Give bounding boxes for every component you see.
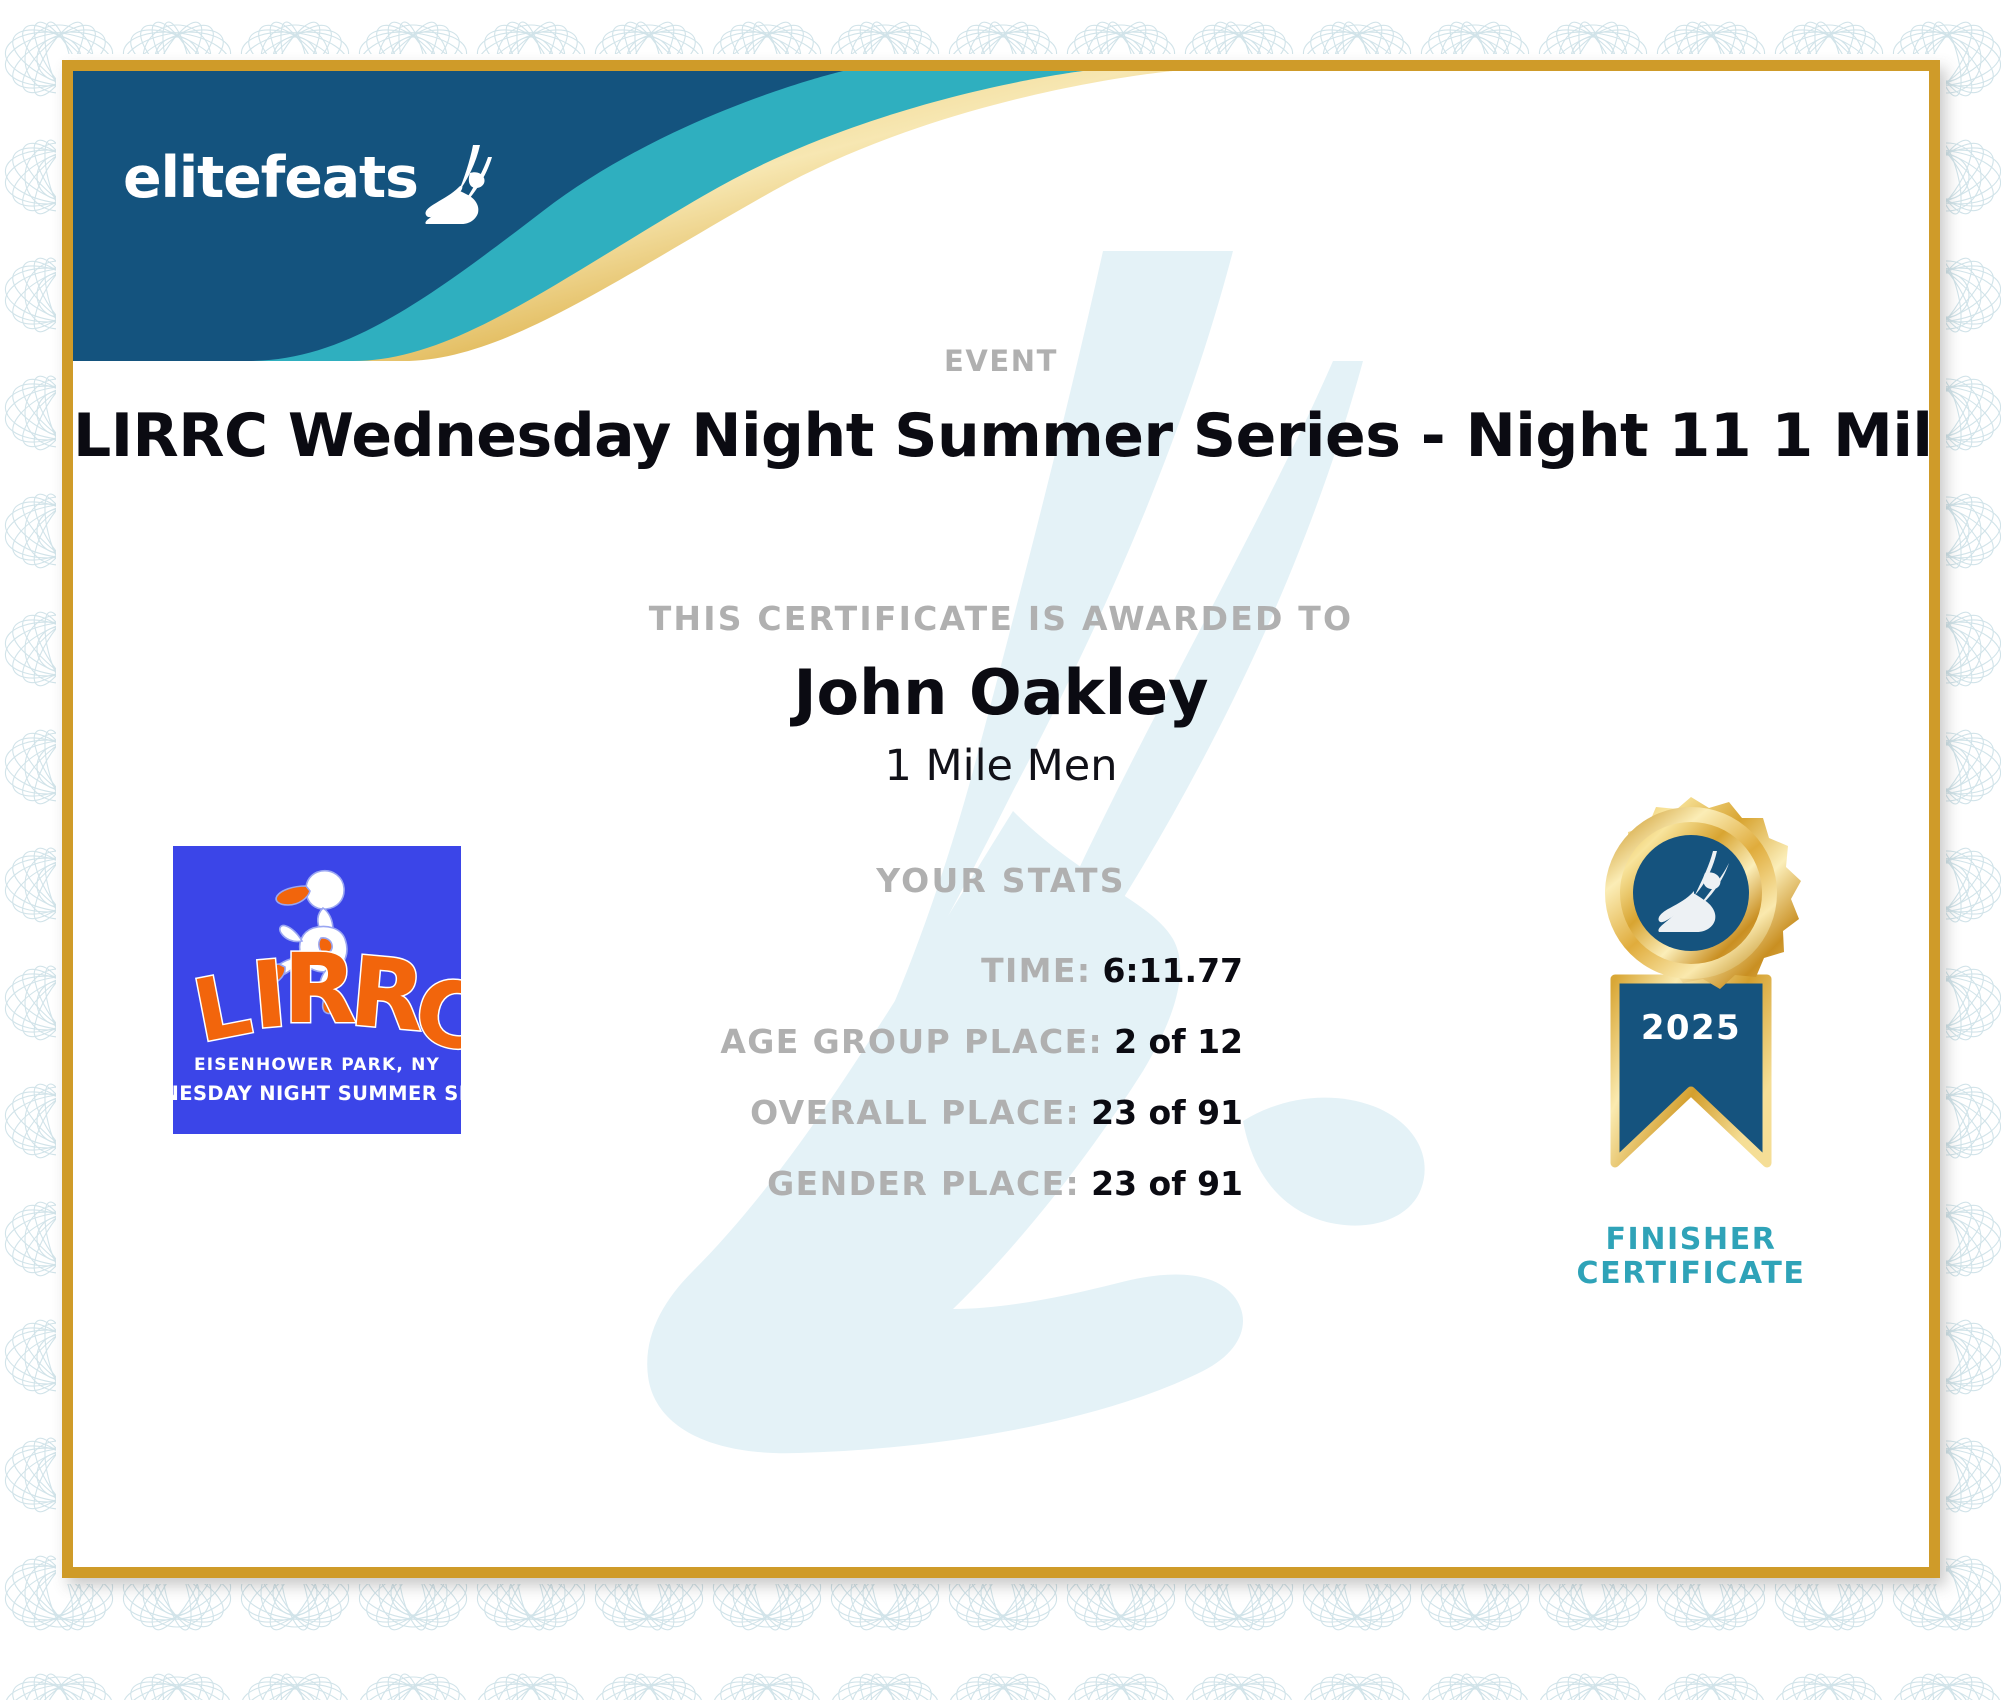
svg-text:R: R [283,933,357,1045]
lirrc-series-text: WEDNESDAY NIGHT SUMMER SERIES [173,1082,461,1105]
medal-rosette [1605,797,1801,989]
medal-year: 2025 [1641,1008,1741,1048]
stat-key: OVERALL PLACE: [750,1093,1080,1132]
brand-wordmark: elitefeats [123,150,418,207]
lirrc-club-logo: L I R R C EISENHOWER PARK, NY WEDNESDAY … [173,846,461,1134]
stat-key: TIME: [981,951,1091,990]
certificate-body: elitefeats EVENT LIRRC Wednesday Night S… [73,71,1929,1567]
stat-value: 23 of 91 [1091,1093,1243,1132]
finisher-medal-badge: 2025 FINISHER CERTIFICATE [1541,791,1841,1290]
stat-key: GENDER PLACE: [767,1164,1080,1203]
elitefeats-logo: elitefeats [123,131,498,225]
event-label: EVENT [73,344,1929,378]
medal-ribbon [1615,979,1767,1163]
lirrc-location-text: EISENHOWER PARK, NY [194,1055,440,1075]
finisher-caption: FINISHER CERTIFICATE [1541,1223,1841,1290]
stat-value: 6:11.77 [1102,951,1243,990]
recipient-name: John Oakley [73,656,1929,729]
stat-row-gender-place: GENDER PLACE: 23 of 91 [73,1164,1243,1203]
stat-value: 2 of 12 [1114,1022,1243,1061]
event-title: LIRRC Wednesday Night Summer Series - Ni… [73,401,1929,471]
division-name: 1 Mile Men [73,741,1929,791]
certificate-frame: elitefeats EVENT LIRRC Wednesday Night S… [62,60,1940,1578]
winged-foot-icon [418,143,498,225]
awarded-to-label: THIS CERTIFICATE IS AWARDED TO [73,599,1929,638]
medal-graphic: 2025 [1557,791,1825,1221]
stat-key: AGE GROUP PLACE: [720,1022,1103,1061]
stat-value: 23 of 91 [1091,1164,1243,1203]
